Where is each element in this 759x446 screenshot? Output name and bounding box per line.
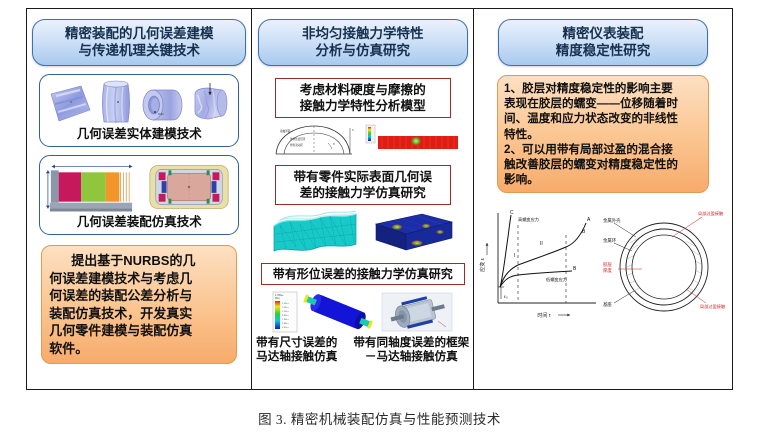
caption-dimension-error-motor-shaft: 带有尺寸误差的 马达轴接触仿真 bbox=[256, 336, 337, 364]
svg-text:0.01: 0.01 bbox=[158, 112, 164, 116]
column-3-note: 1、胶层对精度稳定性的影响主要 表现在胶层的蠕变——位移随着时 间、温度和应力状… bbox=[497, 75, 709, 193]
svg-text:C: C bbox=[510, 210, 514, 216]
caption-coax-line2: －马达轴接触仿真 bbox=[353, 350, 469, 364]
caption-dim-line2: 马达轴接触仿真 bbox=[256, 350, 337, 364]
redbox-real-surface-contact: 带有零件实际表面几何误 差的接触力学仿真研究 bbox=[275, 165, 451, 205]
card-assembly-simulation-caption: 几何误差装配仿真技术 bbox=[44, 214, 234, 232]
ring-contact-diagram: 金属外壳 金属环 胶层 厚度 基座 局部过盈接触 局部过盈接触 bbox=[602, 207, 732, 327]
svg-text:高蠕变应力: 高蠕变应力 bbox=[518, 216, 539, 223]
column-1-header-line1: 精密装配的几何误差建模 bbox=[39, 25, 239, 42]
card-assembly-simulation: 几何误差装配仿真技术 bbox=[39, 155, 239, 235]
column-3-note-line7: 影响。 bbox=[504, 172, 702, 187]
figure-page: 精密装配的几何误差建模 与传递机理关键技术 bbox=[0, 0, 759, 446]
card-solid-modeling-caption: 几何误差实体建模技术 bbox=[44, 126, 234, 144]
three-column-frame: 精密装配的几何误差建模 与传递机理关键技术 bbox=[26, 8, 733, 390]
redbox-material-hardness-friction: 考虑材料硬度与摩擦的 接触力学特性分析模型 bbox=[275, 78, 451, 118]
card-solid-modeling: 0.01 几何误差实体建模技术 bbox=[39, 74, 239, 147]
column-3-note-line1: 1、胶层对精度稳定性的影响主要 bbox=[504, 81, 702, 96]
svg-text:塑性流动区: 塑性流动区 bbox=[290, 143, 303, 147]
deformed-surface-patch-image bbox=[47, 82, 93, 126]
svg-text:应变 ε: 应变 ε bbox=[479, 258, 486, 272]
redbox-2-line1: 带有零件实际表面几何误 bbox=[280, 169, 446, 185]
svg-text:金属环: 金属环 bbox=[603, 237, 617, 244]
waisted-cylinder-surface-image bbox=[96, 80, 136, 126]
column-1-header-line2: 与传递机理关键技术 bbox=[39, 42, 239, 59]
svg-text:时间 τ: 时间 τ bbox=[537, 312, 550, 319]
column-geometric-error: 精密装配的几何误差建模 与传递机理关键技术 bbox=[27, 9, 252, 389]
column-2-header-line1: 非均匀接触力学特性 bbox=[265, 25, 461, 42]
redbox-2-line2: 差的接触力学仿真研究 bbox=[280, 185, 446, 201]
svg-text:厚度: 厚度 bbox=[603, 267, 612, 274]
column-2-header: 非均匀接触力学特性 分析与仿真研究 bbox=[258, 19, 468, 66]
svg-text:接触界面: 接触界面 bbox=[280, 129, 291, 133]
svg-text:胶层: 胶层 bbox=[603, 261, 612, 268]
assembly-simulation-image-row bbox=[44, 160, 234, 214]
column-1-note-line6: 软件。 bbox=[49, 340, 229, 358]
column-1-note-line5: 几何零件建模与装配仿真 bbox=[49, 322, 229, 340]
dark-blue-contact-pressure-block-image bbox=[370, 210, 456, 256]
contact-model-image-row: 接触界面 弹塑性变形区 塑性流动区 θ h bbox=[252, 123, 473, 159]
svg-text:1.59e+: 1.59e+ bbox=[282, 303, 289, 305]
svg-text:1.19e+: 1.19e+ bbox=[282, 311, 289, 313]
svg-text:ε₀: ε₀ bbox=[504, 294, 508, 299]
figure-caption: 图 3. 精密机械装配仿真与性能预测技术 bbox=[0, 408, 759, 428]
column-3-header-line2: 精度稳定性研究 bbox=[505, 42, 701, 59]
red-stress-field-strip-image bbox=[364, 123, 460, 159]
svg-text:弹塑性变形区: 弹塑性变形区 bbox=[290, 137, 306, 141]
column-3-note-line2: 表现在胶层的蠕变——位移随着时 bbox=[504, 96, 702, 111]
column-3-note-line5: 2、可以用带有局部过盈的混合接 bbox=[504, 142, 702, 157]
svg-text:低蠕变应力: 低蠕变应力 bbox=[546, 276, 567, 283]
redbox-3-line1: 带有形位误差的接触力学仿真研究 bbox=[273, 267, 453, 281]
instrument-cross-section-image bbox=[144, 160, 234, 214]
column-3-note-line3: 间、温度和应力状态改变的非线性 bbox=[504, 111, 702, 126]
svg-text:5.96e+: 5.96e+ bbox=[282, 323, 289, 325]
svg-text:3.97e+: 3.97e+ bbox=[282, 327, 289, 329]
redbox-1-line1: 考虑材料硬度与摩擦的 bbox=[280, 82, 446, 98]
svg-text:II: II bbox=[540, 241, 543, 247]
cyan-mesh-contact-block-image bbox=[270, 210, 360, 256]
column-3-note-line6: 触改善胶层的蠕变对精度稳定性的 bbox=[504, 157, 702, 172]
column-3-header: 精密仪表装配 精度稳定性研究 bbox=[498, 19, 708, 66]
caption-coaxiality-error-frame: 带有同轴度误差的框架 －马达轴接触仿真 bbox=[353, 336, 469, 364]
motor-shaft-image-row: 1.785e+ Max 1.59e+1.39e+ 1.19e+9.93e+ 7.… bbox=[252, 291, 473, 333]
svg-text:金属外壳: 金属外壳 bbox=[603, 217, 621, 224]
svg-text:I: I bbox=[514, 253, 515, 259]
surface-contact-image-row bbox=[252, 210, 473, 256]
svg-text:1.39e+: 1.39e+ bbox=[282, 307, 289, 309]
frame-motor-shaft-assembly-image bbox=[380, 291, 454, 333]
svg-text:局部过盈接触: 局部过盈接触 bbox=[700, 303, 726, 310]
rough-cylinder-end-image bbox=[188, 82, 232, 126]
column-1-note-line4: 装配仿真技术，开发真实 bbox=[49, 305, 229, 323]
tolerance-stack-blocks-image bbox=[44, 160, 140, 214]
column-1-header: 精密装配的几何误差建模 与传递机理关键技术 bbox=[32, 19, 246, 66]
motor-shaft-caption-row: 带有尺寸误差的 马达轴接触仿真 带有同轴度误差的框架 －马达轴接触仿真 bbox=[252, 336, 473, 364]
column-3-header-line1: 精密仪表装配 bbox=[505, 25, 701, 42]
svg-text:局部过盈接触: 局部过盈接触 bbox=[698, 210, 724, 217]
svg-text:基座: 基座 bbox=[603, 301, 612, 308]
creep-curve-chart: 应变 ε 时间 τ ε₀ C 高蠕 bbox=[474, 207, 602, 327]
column-contact-mechanics: 非均匀接触力学特性 分析与仿真研究 考虑材料硬度与摩擦的 接触力学特性分析模型 … bbox=[252, 9, 474, 389]
column-3-figure-row: 应变 ε 时间 τ ε₀ C 高蠕 bbox=[474, 207, 732, 327]
svg-text:7.95e+: 7.95e+ bbox=[282, 319, 289, 321]
svg-text:Max: Max bbox=[275, 297, 280, 300]
column-1-note-line2: 何误差建模技术与考虑几 bbox=[49, 270, 229, 288]
column-1-note: 提出基于NURBS的几 何误差建模技术与考虑几 何误差的装配公差分析与 装配仿真… bbox=[41, 245, 237, 364]
column-1-note-line3: 何误差的装配公差分析与 bbox=[49, 287, 229, 305]
column-3-note-line4: 特性。 bbox=[504, 127, 702, 142]
blue-cylinder-shaft-image bbox=[300, 291, 378, 333]
caption-coax-line1: 带有同轴度误差的框架 bbox=[353, 336, 469, 350]
contact-arch-schematic-image: 接触界面 弹塑性变形区 塑性流动区 θ h bbox=[266, 123, 358, 159]
column-precision-stability: 精密仪表装配 精度稳定性研究 1、胶层对精度稳定性的影响主要 表现在胶层的蠕变—… bbox=[474, 9, 732, 389]
column-2-header-line2: 分析与仿真研究 bbox=[265, 42, 461, 59]
svg-text:9.93e+: 9.93e+ bbox=[282, 315, 289, 317]
caption-dim-line1: 带有尺寸误差的 bbox=[256, 336, 337, 350]
redbox-1-line2: 接触力学特性分析模型 bbox=[280, 98, 446, 114]
legend-colorbar-image: 1.785e+ Max 1.59e+1.39e+ 1.19e+9.93e+ 7.… bbox=[272, 291, 298, 333]
ring-bore-model-image: 0.01 bbox=[139, 84, 185, 126]
solid-modeling-image-row: 0.01 bbox=[44, 79, 234, 126]
redbox-form-position-error: 带有形位误差的接触力学仿真研究 bbox=[261, 263, 465, 285]
column-1-note-line1: 提出基于NURBS的几 bbox=[71, 253, 195, 268]
